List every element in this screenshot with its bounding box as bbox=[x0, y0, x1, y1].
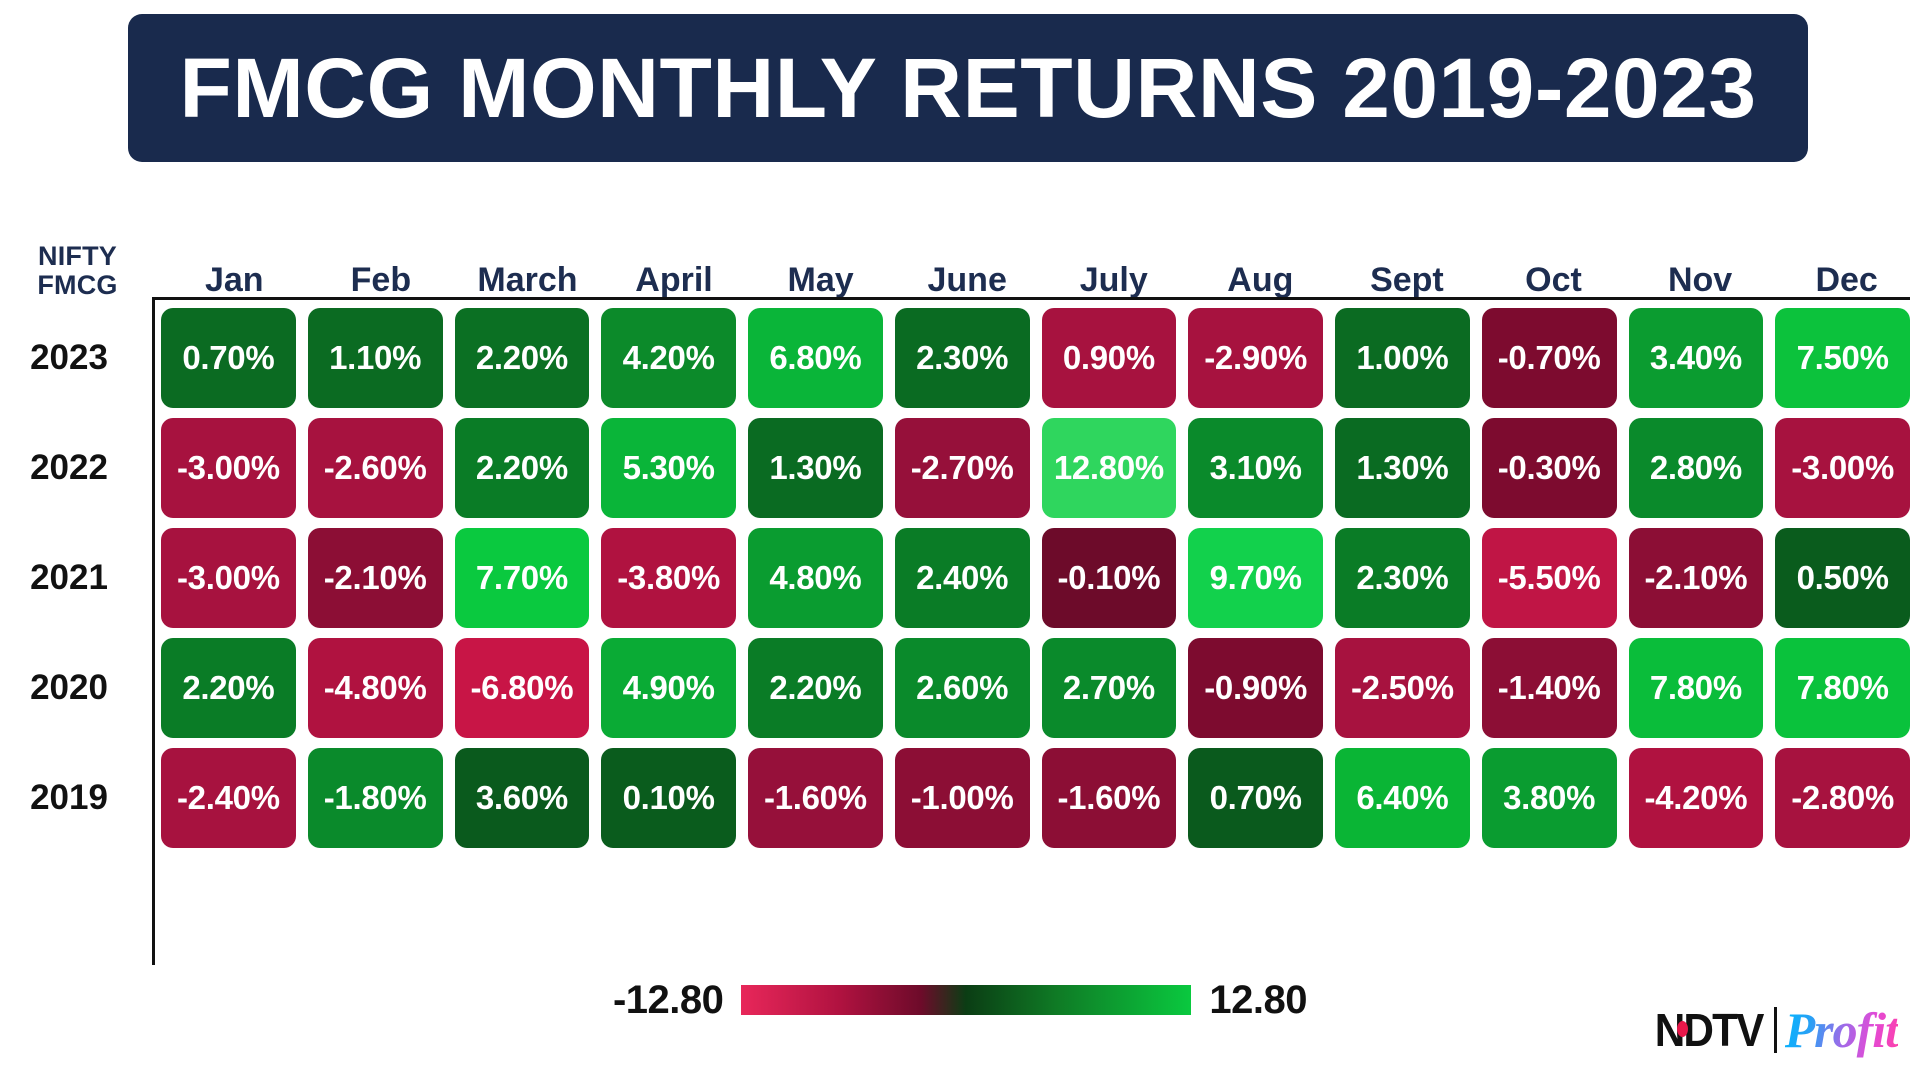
heatmap-cell-2019-may[interactable]: -1.60% bbox=[748, 748, 883, 848]
heatmap-row-2019: 2019-2.40%-1.80%3.60%0.10%-1.60%-1.00%-1… bbox=[0, 743, 1920, 853]
heatmap-cell-2022-april[interactable]: 5.30% bbox=[601, 418, 736, 518]
corner-label-line1: NIFTY bbox=[38, 241, 117, 271]
heatmap-cell-2023-nov[interactable]: 3.40% bbox=[1629, 308, 1764, 408]
heatmap-cell-2021-oct[interactable]: -5.50% bbox=[1482, 528, 1617, 628]
heatmap-cell-2023-may[interactable]: 6.80% bbox=[748, 308, 883, 408]
heatmap-cell-2020-april[interactable]: 4.90% bbox=[601, 638, 736, 738]
row-label-2020: 2020 bbox=[0, 668, 152, 708]
heatmap-cell-2020-may[interactable]: 2.20% bbox=[748, 638, 883, 738]
heatmap-cell-2020-june[interactable]: 2.60% bbox=[895, 638, 1030, 738]
heatmap-cell-2020-feb[interactable]: -4.80% bbox=[308, 638, 443, 738]
heatmap-cell-2021-may[interactable]: 4.80% bbox=[748, 528, 883, 628]
heatmap-cell-2019-feb[interactable]: -1.80% bbox=[308, 748, 443, 848]
heatmap-cell-2023-june[interactable]: 2.30% bbox=[895, 308, 1030, 408]
heatmap-cell-2021-march[interactable]: 7.70% bbox=[455, 528, 590, 628]
heatmap-cell-2022-may[interactable]: 1.30% bbox=[748, 418, 883, 518]
heatmap-cell-2021-jan[interactable]: -3.00% bbox=[161, 528, 296, 628]
heatmap-cell-2019-sept[interactable]: 6.40% bbox=[1335, 748, 1470, 848]
column-header-dec: Dec bbox=[1773, 261, 1920, 302]
color-scale-legend: -12.80 12.80 bbox=[0, 970, 1920, 1030]
heatmap-cell-2019-april[interactable]: 0.10% bbox=[601, 748, 736, 848]
column-header-aug: Aug bbox=[1187, 261, 1334, 302]
heatmap-cell-2020-sept[interactable]: -2.50% bbox=[1335, 638, 1470, 738]
heatmap-row-2023: 20230.70%1.10%2.20%4.20%6.80%2.30%0.90%-… bbox=[0, 303, 1920, 413]
heatmap-cell-2022-feb[interactable]: -2.60% bbox=[308, 418, 443, 518]
heatmap-cell-2022-july[interactable]: 12.80% bbox=[1042, 418, 1177, 518]
column-header-jan: Jan bbox=[161, 261, 308, 302]
heatmap-row-cells: -3.00%-2.60%2.20%5.30%1.30%-2.70%12.80%3… bbox=[152, 418, 1920, 518]
page-title: FMCG MONTHLY RETURNS 2019-2023 bbox=[179, 46, 1756, 130]
heatmap-cell-2023-march[interactable]: 2.20% bbox=[455, 308, 590, 408]
heatmap-cell-2021-aug[interactable]: 9.70% bbox=[1188, 528, 1323, 628]
heatmap-cell-2019-dec[interactable]: -2.80% bbox=[1775, 748, 1910, 848]
heatmap-cell-2022-march[interactable]: 2.20% bbox=[455, 418, 590, 518]
legend-max-label: 12.80 bbox=[1209, 978, 1307, 1023]
heatmap-grid: NIFTY FMCG Jan Feb March April May June … bbox=[0, 225, 1920, 965]
corner-label: NIFTY FMCG bbox=[0, 242, 155, 302]
heatmap-cell-2022-dec[interactable]: -3.00% bbox=[1775, 418, 1910, 518]
heatmap-cell-2023-oct[interactable]: -0.70% bbox=[1482, 308, 1617, 408]
heatmap-cell-2021-july[interactable]: -0.10% bbox=[1042, 528, 1177, 628]
heatmap-cell-2022-june[interactable]: -2.70% bbox=[895, 418, 1030, 518]
heatmap-row-2020: 20202.20%-4.80%-6.80%4.90%2.20%2.60%2.70… bbox=[0, 633, 1920, 743]
row-label-2019: 2019 bbox=[0, 778, 152, 818]
heatmap-cell-2023-feb[interactable]: 1.10% bbox=[308, 308, 443, 408]
heatmap-cell-2021-feb[interactable]: -2.10% bbox=[308, 528, 443, 628]
title-banner: FMCG MONTHLY RETURNS 2019-2023 bbox=[128, 14, 1808, 162]
heatmap-cell-2023-jan[interactable]: 0.70% bbox=[161, 308, 296, 408]
heatmap-cell-2019-june[interactable]: -1.00% bbox=[895, 748, 1030, 848]
heatmap-cell-2019-aug[interactable]: 0.70% bbox=[1188, 748, 1323, 848]
legend-min-label: -12.80 bbox=[613, 978, 723, 1023]
heatmap-row-cells: 0.70%1.10%2.20%4.20%6.80%2.30%0.90%-2.90… bbox=[152, 308, 1920, 408]
heatmap-page: FMCG MONTHLY RETURNS 2019-2023 NIFTY FMC… bbox=[0, 0, 1920, 1074]
ndtv-profit-logo: NDTV Profit bbox=[1650, 1004, 1898, 1056]
column-header-june: June bbox=[894, 261, 1041, 302]
heatmap-cell-2020-jan[interactable]: 2.20% bbox=[161, 638, 296, 738]
heatmap-cell-2023-aug[interactable]: -2.90% bbox=[1188, 308, 1323, 408]
axis-line-top bbox=[152, 297, 1910, 300]
column-header-july: July bbox=[1040, 261, 1187, 302]
column-header-feb: Feb bbox=[308, 261, 455, 302]
column-header-row: NIFTY FMCG Jan Feb March April May June … bbox=[0, 225, 1920, 302]
logo-brand-text: NDTV bbox=[1655, 1003, 1763, 1057]
heatmap-cell-2019-nov[interactable]: -4.20% bbox=[1629, 748, 1764, 848]
heatmap-row-cells: 2.20%-4.80%-6.80%4.90%2.20%2.60%2.70%-0.… bbox=[152, 638, 1920, 738]
heatmap-cell-2020-dec[interactable]: 7.80% bbox=[1775, 638, 1910, 738]
heatmap-cell-2023-sept[interactable]: 1.00% bbox=[1335, 308, 1470, 408]
heatmap-cell-2019-march[interactable]: 3.60% bbox=[455, 748, 590, 848]
heatmap-cell-2019-july[interactable]: -1.60% bbox=[1042, 748, 1177, 848]
heatmap-cell-2022-aug[interactable]: 3.10% bbox=[1188, 418, 1323, 518]
heatmap-cell-2022-nov[interactable]: 2.80% bbox=[1629, 418, 1764, 518]
legend-gradient-bar bbox=[741, 985, 1191, 1015]
logo-product-text: Profit bbox=[1785, 1001, 1898, 1059]
heatmap-cell-2019-jan[interactable]: -2.40% bbox=[161, 748, 296, 848]
heatmap-row-cells: -3.00%-2.10%7.70%-3.80%4.80%2.40%-0.10%9… bbox=[152, 528, 1920, 628]
row-label-2023: 2023 bbox=[0, 338, 152, 378]
heatmap-cell-2023-april[interactable]: 4.20% bbox=[601, 308, 736, 408]
column-header-oct: Oct bbox=[1480, 261, 1627, 302]
heatmap-cell-2020-march[interactable]: -6.80% bbox=[455, 638, 590, 738]
heatmap-cell-2020-nov[interactable]: 7.80% bbox=[1629, 638, 1764, 738]
corner-label-line2: FMCG bbox=[0, 271, 155, 300]
column-header-may: May bbox=[747, 261, 894, 302]
heatmap-cell-2021-dec[interactable]: 0.50% bbox=[1775, 528, 1910, 628]
heatmap-row-2021: 2021-3.00%-2.10%7.70%-3.80%4.80%2.40%-0.… bbox=[0, 523, 1920, 633]
heatmap-cell-2023-july[interactable]: 0.90% bbox=[1042, 308, 1177, 408]
heatmap-cell-2020-july[interactable]: 2.70% bbox=[1042, 638, 1177, 738]
column-header-sept: Sept bbox=[1334, 261, 1481, 302]
heatmap-cell-2021-sept[interactable]: 2.30% bbox=[1335, 528, 1470, 628]
heatmap-cell-2022-oct[interactable]: -0.30% bbox=[1482, 418, 1617, 518]
heatmap-row-cells: -2.40%-1.80%3.60%0.10%-1.60%-1.00%-1.60%… bbox=[152, 748, 1920, 848]
column-header-nov: Nov bbox=[1627, 261, 1774, 302]
heatmap-cell-2021-nov[interactable]: -2.10% bbox=[1629, 528, 1764, 628]
heatmap-cell-2022-jan[interactable]: -3.00% bbox=[161, 418, 296, 518]
heatmap-cell-2020-oct[interactable]: -1.40% bbox=[1482, 638, 1617, 738]
heatmap-cell-2019-oct[interactable]: 3.80% bbox=[1482, 748, 1617, 848]
logo-divider bbox=[1774, 1007, 1777, 1053]
row-label-2021: 2021 bbox=[0, 558, 152, 598]
heatmap-cell-2021-april[interactable]: -3.80% bbox=[601, 528, 736, 628]
heatmap-cell-2021-june[interactable]: 2.40% bbox=[895, 528, 1030, 628]
heatmap-cell-2020-aug[interactable]: -0.90% bbox=[1188, 638, 1323, 738]
heatmap-row-2022: 2022-3.00%-2.60%2.20%5.30%1.30%-2.70%12.… bbox=[0, 413, 1920, 523]
column-header-april: April bbox=[601, 261, 748, 302]
heatmap-cell-2023-dec[interactable]: 7.50% bbox=[1775, 308, 1910, 408]
column-header-march: March bbox=[454, 261, 601, 302]
heatmap-cell-2022-sept[interactable]: 1.30% bbox=[1335, 418, 1470, 518]
row-label-2022: 2022 bbox=[0, 448, 152, 488]
